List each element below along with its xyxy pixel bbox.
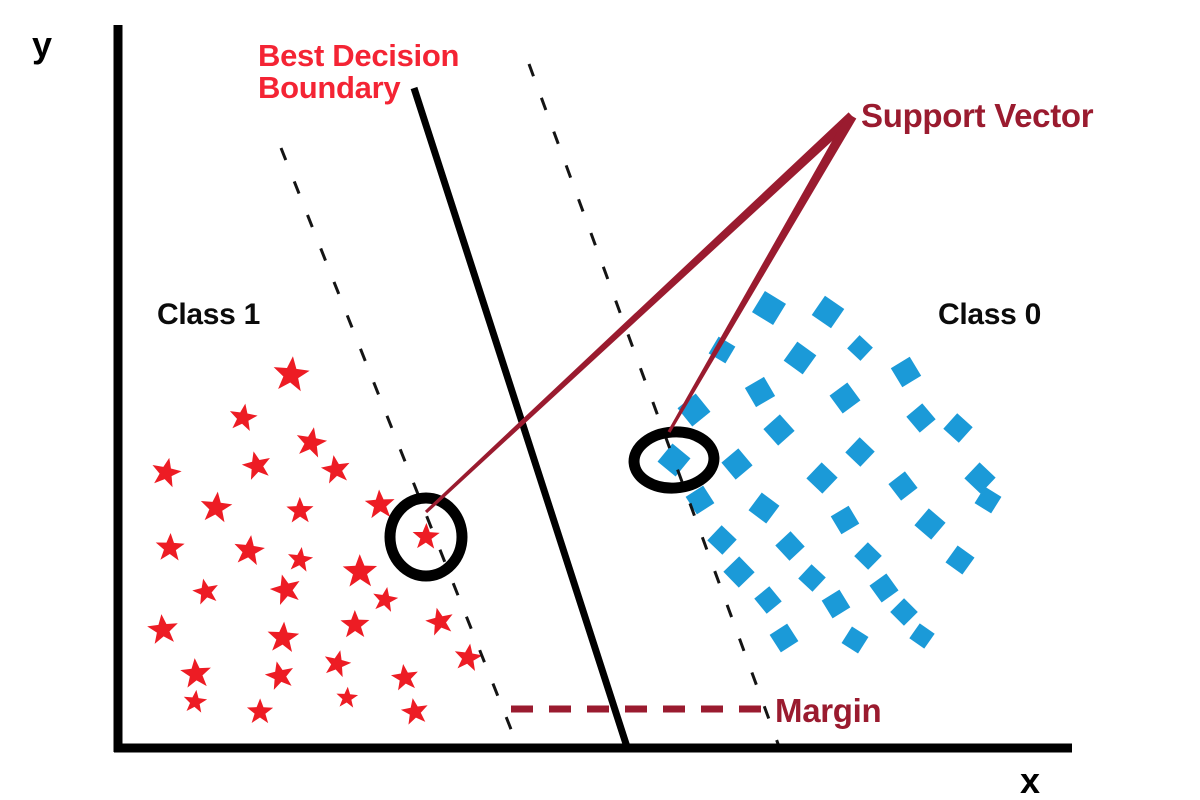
class-1-star-marker [423, 605, 456, 637]
class-0-diamond-marker [763, 414, 796, 447]
class-0-diamond-marker [806, 462, 838, 494]
class-1-star-marker [263, 658, 297, 691]
class-0-diamond-marker [943, 413, 974, 444]
class-0-diamond-marker [809, 293, 848, 332]
best-decision-boundary-label: Best Decision Boundary [258, 40, 459, 104]
class-1-label: Class 1 [157, 300, 260, 331]
class-0-diamond-marker [886, 469, 919, 502]
class-1-star-marker [239, 448, 273, 481]
class-0-diamond-marker [827, 502, 863, 538]
class-0-diamond-marker [867, 571, 901, 605]
class-1-star-marker [267, 571, 304, 607]
class-1-star-marker [190, 576, 221, 606]
class-0-diamond-marker [781, 339, 819, 377]
class-1-star-marker [321, 647, 353, 678]
class-0-diamond-marker [913, 507, 947, 541]
class-1-star-marker [155, 532, 185, 560]
class-1-star-marker [266, 621, 300, 653]
class-1-star-marker [179, 657, 212, 688]
class-1-star-marker [336, 686, 359, 708]
best-decision-boundary-line [414, 88, 628, 750]
class-1-star-marker [232, 533, 266, 566]
class-1-star-marker [227, 401, 259, 431]
class-1-star-marker [412, 522, 440, 548]
class-0-diamond-marker [905, 402, 937, 434]
x-axis-label: x [1020, 762, 1040, 799]
class-0-diamond-marker [890, 598, 918, 626]
decision-boundary-layer [414, 88, 628, 750]
class-1-star-marker [271, 354, 310, 392]
class-0-diamond-marker [741, 373, 779, 411]
class-0-diamond-marker [845, 437, 875, 467]
class-0-label: Class 0 [938, 300, 1041, 331]
class-1-star-marker [149, 455, 184, 489]
class-1-star-marker [452, 642, 484, 672]
svm-diagram-canvas: y x Best Decision Boundary Support Vecto… [0, 0, 1200, 800]
class-0-diamond-marker [775, 531, 805, 561]
class-0-diamond-marker [656, 442, 692, 478]
class-1-star-marker [294, 424, 330, 458]
class-0-diamond-marker [746, 490, 781, 525]
class-0-diamond-marker [907, 621, 937, 651]
y-axis-label: y [32, 26, 52, 63]
class-0-diamond-marker [818, 586, 853, 621]
right-margin-line [529, 64, 781, 752]
class-1-star-marker [286, 497, 314, 523]
class-1-star-marker [399, 696, 430, 726]
class-1-star-marker [247, 698, 273, 723]
class-0-diamond-marker [720, 447, 754, 481]
class-1-star-marker [343, 554, 378, 587]
class-0-diamond-marker [854, 542, 882, 570]
class-0-diamond-marker [887, 353, 925, 391]
class-0-diamond-marker [847, 335, 874, 362]
class-0-diamond-marker [753, 585, 783, 615]
class-0-diamond-marker [748, 287, 790, 329]
class-0-diamond-marker [943, 543, 977, 577]
margin-label: Margin [775, 694, 881, 728]
class-0-diamond-marker [723, 556, 755, 588]
data-point-layer [146, 287, 1004, 726]
support-vector-label: Support Vector [861, 99, 1093, 133]
class-1-star-marker [182, 689, 208, 714]
class-1-star-marker [319, 453, 352, 485]
class-0-diamond-marker [839, 624, 872, 657]
class-0-diamond-marker [766, 620, 801, 655]
class-0-diamond-marker [707, 525, 737, 555]
class-0-diamond-marker [964, 462, 996, 494]
class-1-star-marker [371, 585, 400, 613]
class-1-star-marker [146, 613, 179, 645]
class-1-star-marker [199, 490, 234, 523]
class-1-star-marker [340, 610, 369, 638]
class-0-diamond-marker [798, 564, 826, 592]
class-1-star-marker [390, 662, 420, 691]
class-1-star-marker [286, 545, 314, 572]
class-0-diamond-marker [827, 380, 863, 416]
